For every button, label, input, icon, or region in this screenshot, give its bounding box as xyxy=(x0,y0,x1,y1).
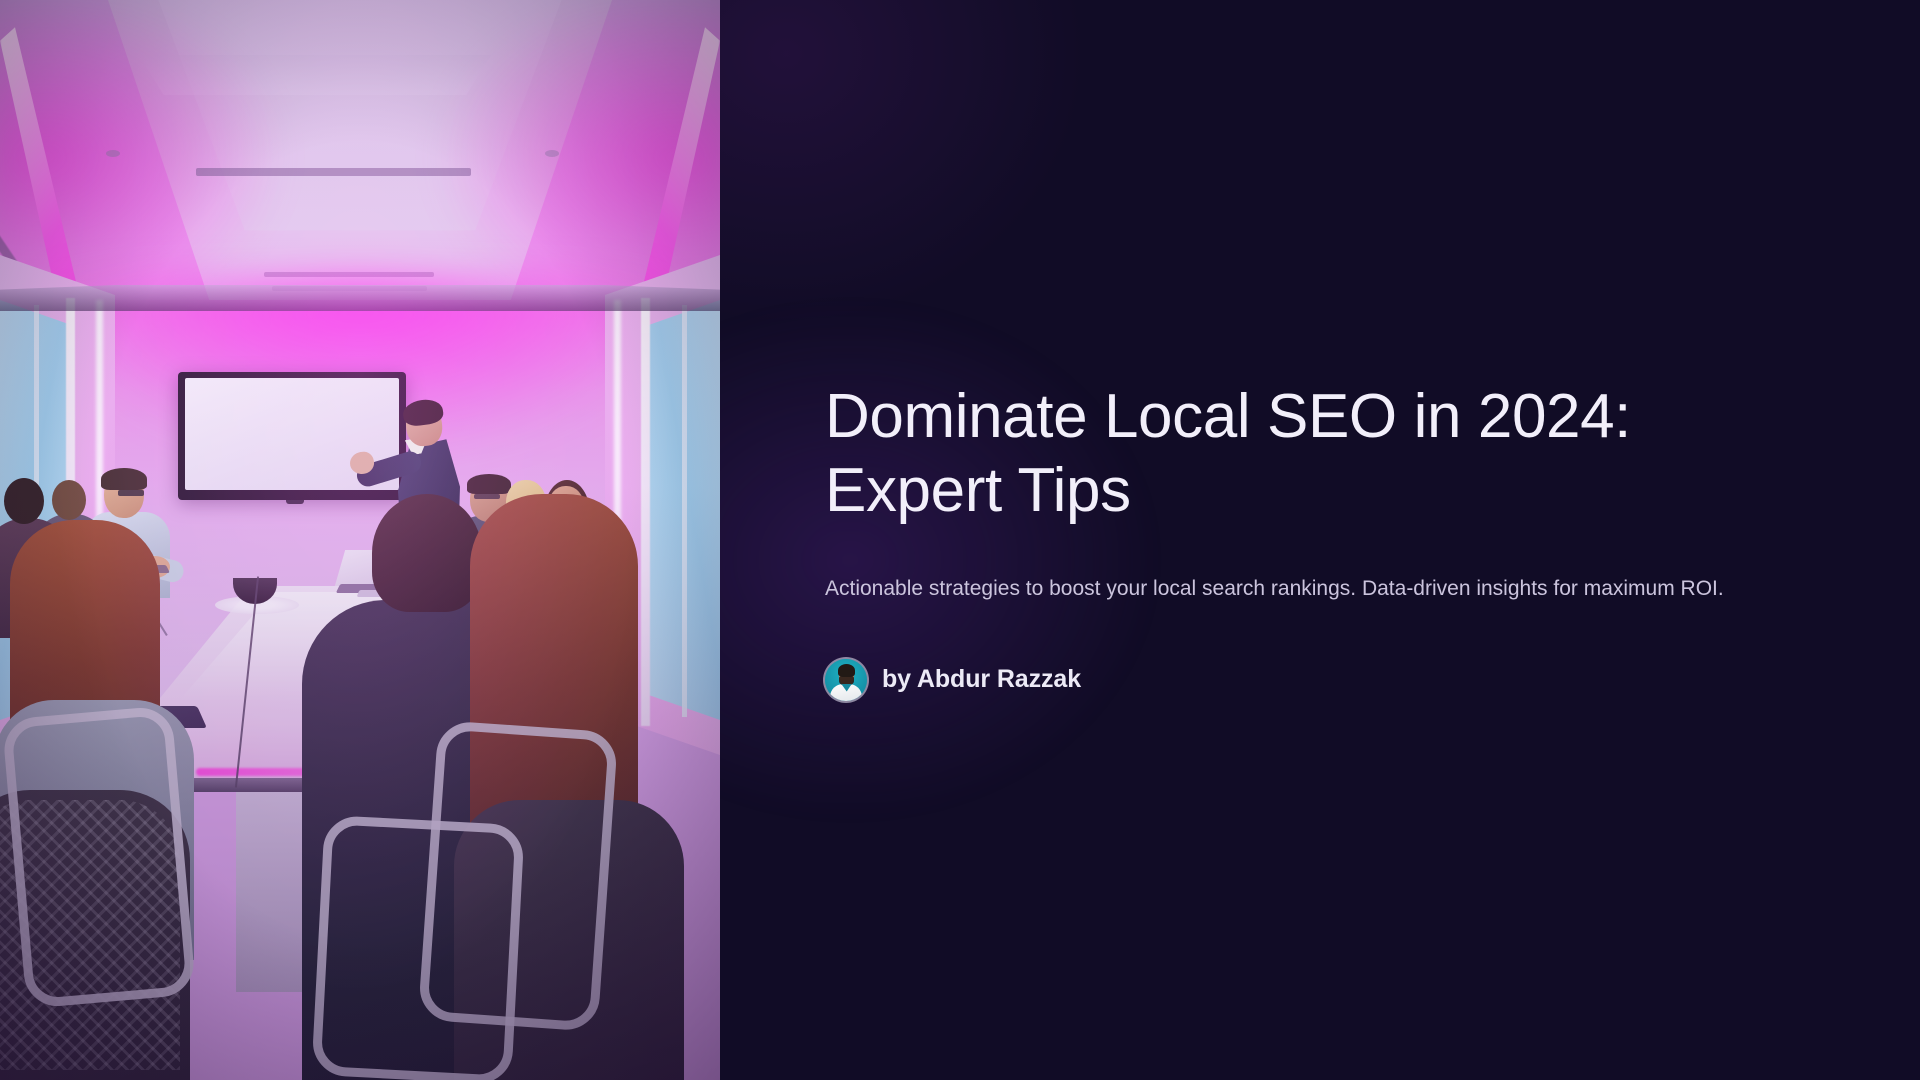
photo-vignette xyxy=(0,0,720,1080)
avatar-hair xyxy=(838,664,855,677)
hero-subtitle: Actionable strategies to boost your loca… xyxy=(825,570,1835,608)
hero-content: Dominate Local SEO in 2024: Expert Tips … xyxy=(825,0,1835,1080)
author-byline: by Abdur Razzak xyxy=(825,659,1835,701)
hero-photo xyxy=(0,0,720,1080)
hero-banner: Dominate Local SEO in 2024: Expert Tips … xyxy=(0,0,1920,1080)
author-name: by Abdur Razzak xyxy=(882,665,1081,694)
avatar xyxy=(825,659,867,701)
hero-content-panel: Dominate Local SEO in 2024: Expert Tips … xyxy=(720,0,1920,1080)
page-title: Dominate Local SEO in 2024: Expert Tips xyxy=(825,380,1705,529)
